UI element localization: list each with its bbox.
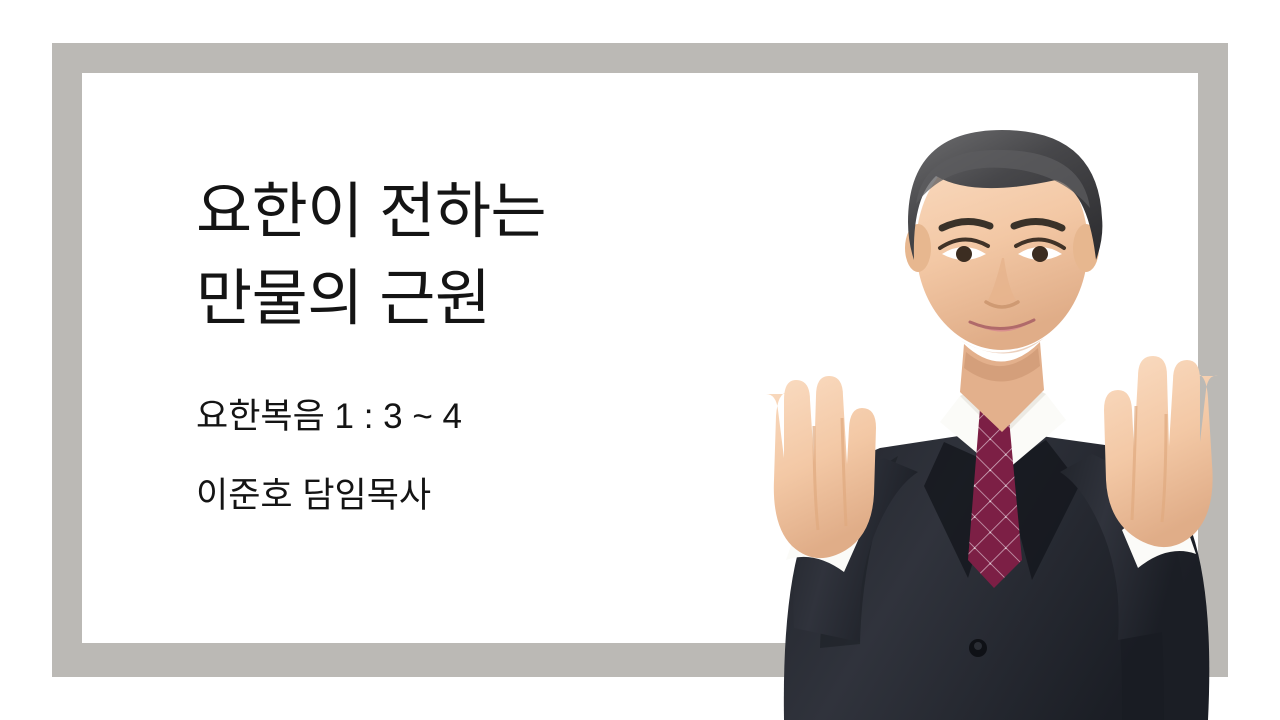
speaker-name: 이준호 담임목사 [196,478,736,513]
sermon-title-slide: 요한이 전하는 만물의 근원 요한복음 1 : 3 ~ 4 이준호 담임목사 [0,0,1280,720]
scripture-reference: 요한복음 1 : 3 ~ 4 [196,399,736,434]
subtitle-group: 요한복음 1 : 3 ~ 4 이준호 담임목사 [196,399,736,513]
title-text-block: 요한이 전하는 만물의 근원 요한복음 1 : 3 ~ 4 이준호 담임목사 [196,168,736,513]
page-title: 요한이 전하는 만물의 근원 [196,168,736,341]
